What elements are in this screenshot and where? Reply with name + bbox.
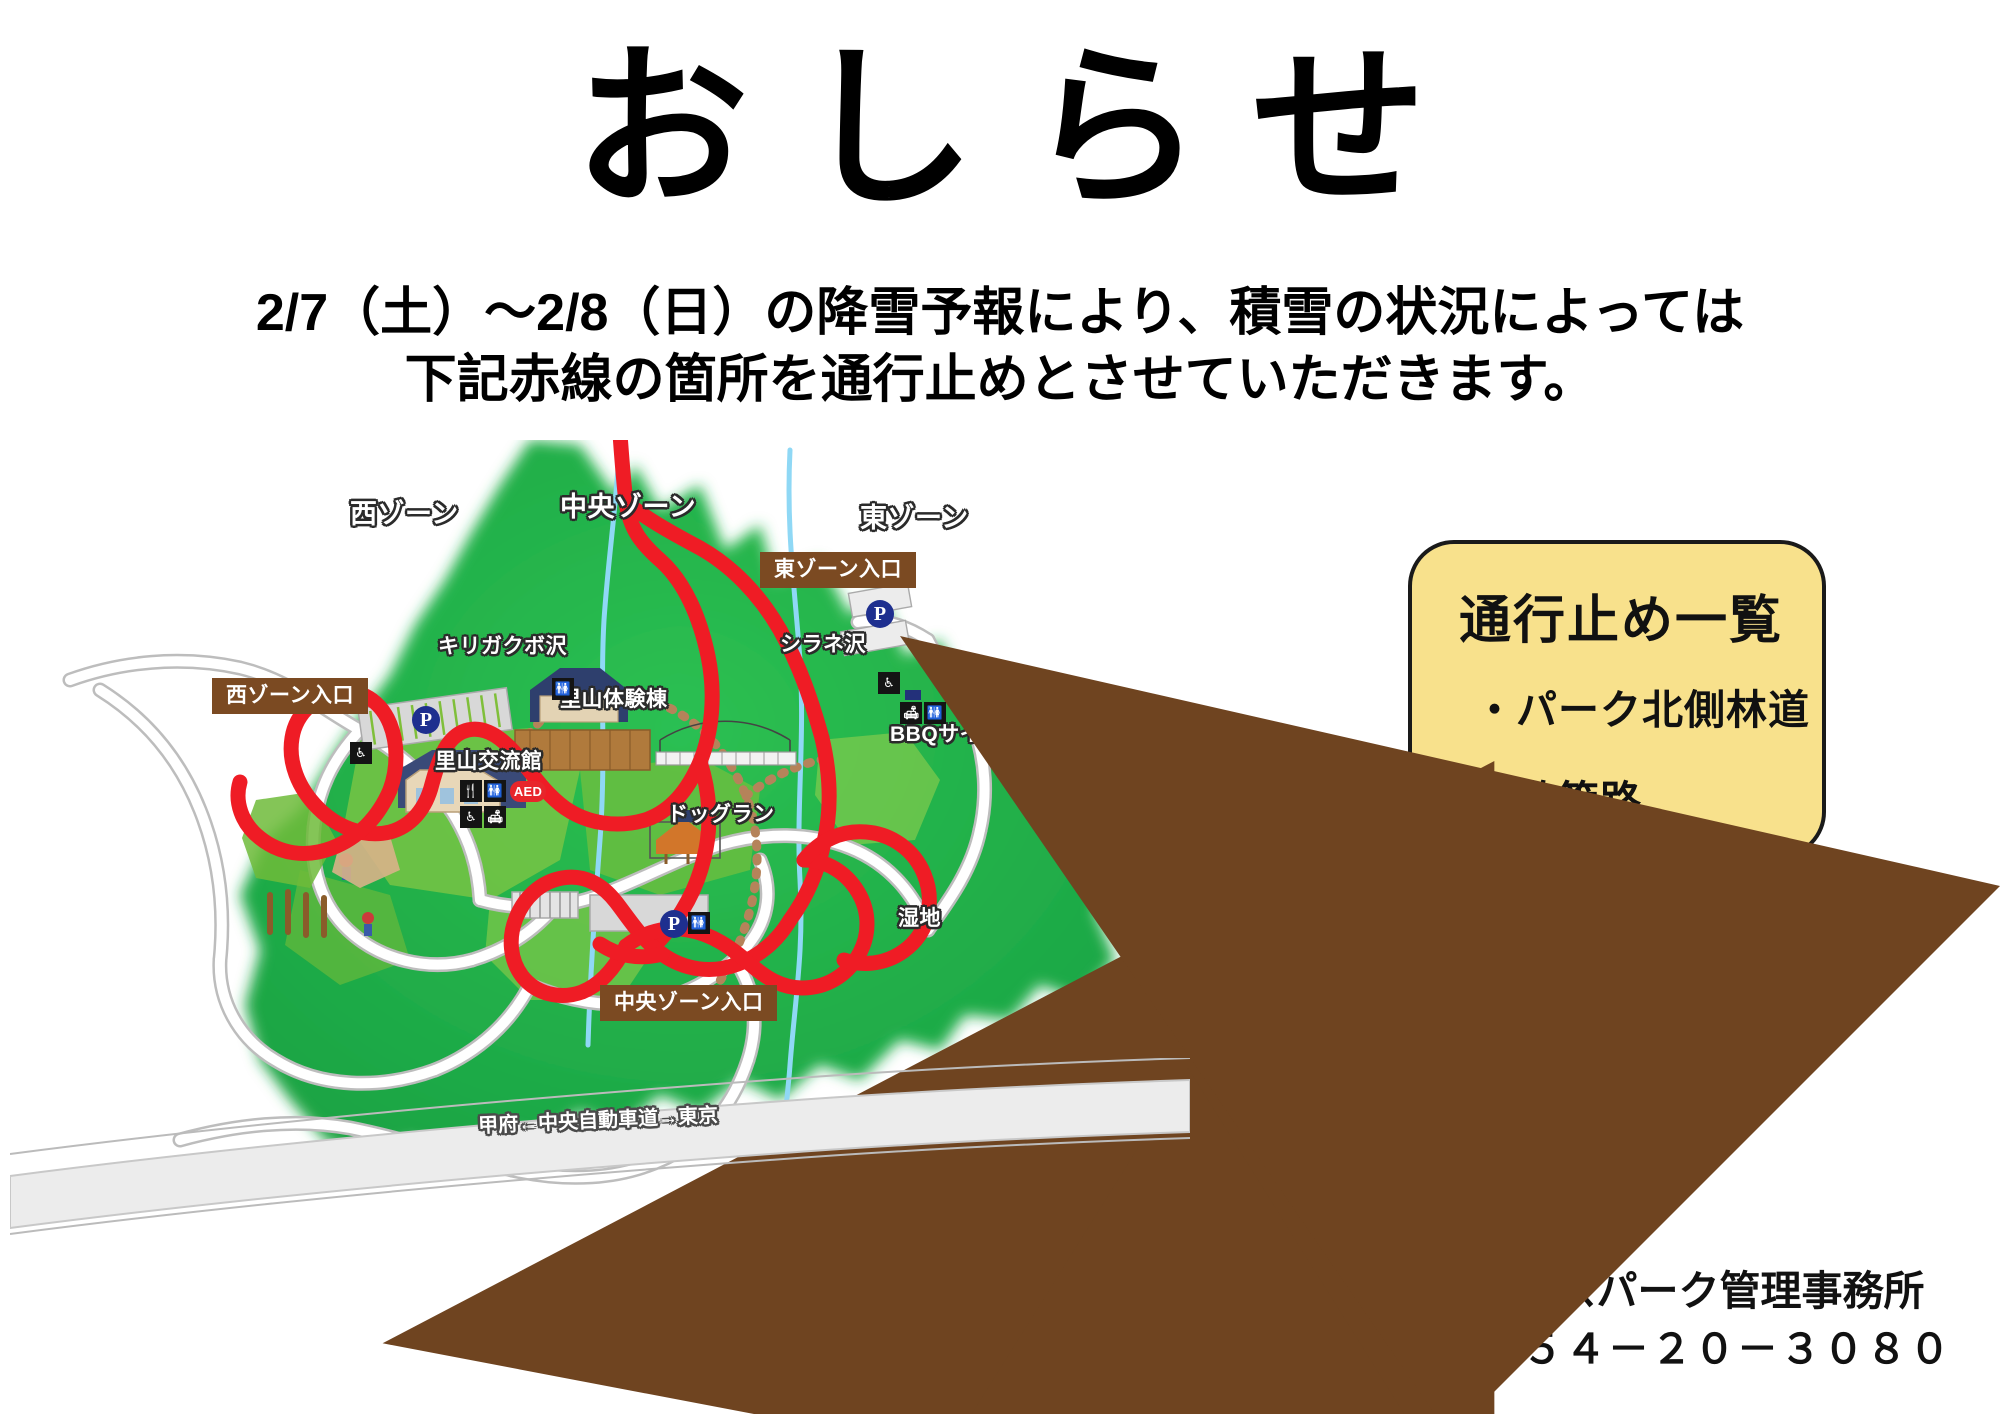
entrance-sign-east[interactable]: 東ゾーン入口	[760, 552, 916, 588]
zone-label-west: 西ゾーン	[350, 492, 459, 531]
park-map: 西ゾーン 中央ゾーン 東ゾーン キリガクボ沢 シラネ沢 里山体験棟 里山交流館 …	[60, 440, 1320, 1340]
wheelchair-icon: ♿	[460, 806, 482, 828]
entrance-sign-central[interactable]: 中央ゾーン入口	[600, 985, 777, 1021]
notice-line-1: 2/7（土）～2/8（日）の降雪予報により、積雪の状況によっては	[256, 284, 1744, 342]
expressway	[10, 1058, 1190, 1288]
restaurant-icon: 🍴	[460, 780, 482, 802]
aed-icon: AED	[510, 781, 546, 802]
toilet-icon: 🚻	[924, 702, 946, 724]
notice-text: 2/7（土）～2/8（日）の降雪予報により、積雪の状況によっては 下記赤線の箇所…	[0, 280, 2000, 413]
wheelchair-icon: ♿	[350, 742, 372, 764]
parking-icon: P	[412, 706, 440, 734]
wheelchair-icon: ♿	[878, 672, 900, 694]
page-title: おしらせ	[0, 38, 2000, 222]
toilet-icon: 🚻	[484, 780, 506, 802]
area-label-kirigakubozawa: キリガクボ沢	[438, 630, 567, 660]
toilet-icon: 🚻	[552, 678, 574, 700]
bench-icon: 🛋	[900, 702, 922, 724]
notice-line-2: 下記赤線の箇所を通行止めとさせていただきます。	[0, 347, 2000, 414]
toilet-icon: 🚻	[688, 912, 710, 934]
zone-label-central: 中央ゾーン	[560, 485, 696, 524]
bench-icon: 🛋	[484, 806, 506, 828]
zone-label-east: 東ゾーン	[860, 496, 969, 535]
parking-icon: P	[660, 910, 688, 938]
notice-poster: おしらせ 2/7（土）～2/8（日）の降雪予報により、積雪の状況によっては 下記…	[0, 0, 2000, 1414]
parking-icon: P	[866, 600, 894, 628]
